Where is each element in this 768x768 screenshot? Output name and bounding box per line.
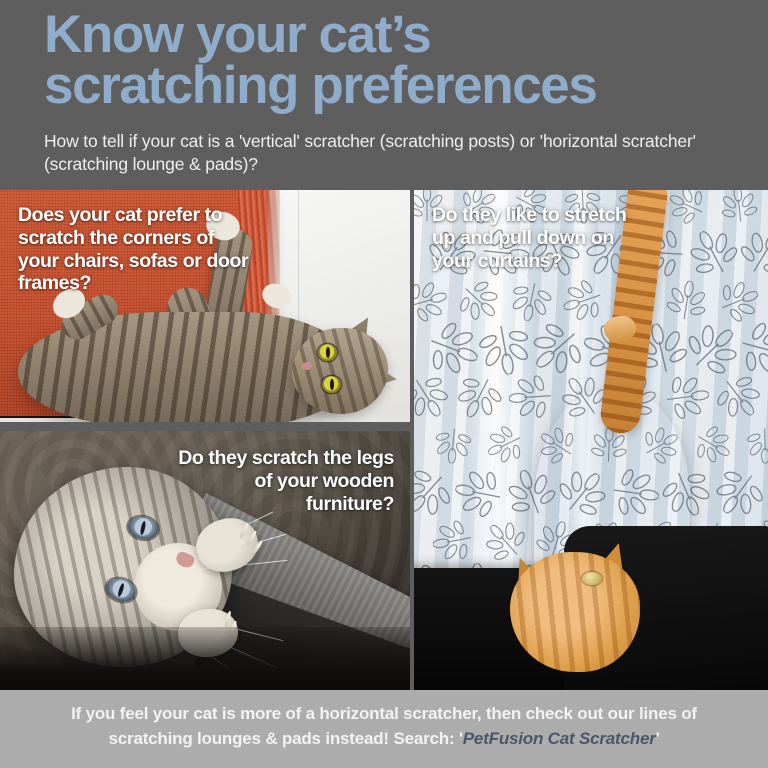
cat-head xyxy=(510,552,640,672)
panel-top-left: Does your cat prefer to scratch the corn… xyxy=(0,190,410,422)
panel-bottom-left: Do they scratch the legs of your wooden … xyxy=(0,431,410,690)
footer-quote-close: ' xyxy=(656,729,660,748)
infographic-poster: Know your cat’s scratching preferences H… xyxy=(0,0,768,768)
page-title: Know your cat’s scratching preferences xyxy=(44,10,744,112)
panel-caption-top-left: Does your cat prefer to scratch the corn… xyxy=(18,204,258,295)
footer-text: If you feel your cat is more of a horizo… xyxy=(34,702,734,751)
panel-caption-right: Do they like to stretch up and pull down… xyxy=(432,204,642,272)
page-subtitle: How to tell if your cat is a 'vertical' … xyxy=(44,130,734,176)
cat-head xyxy=(292,328,388,414)
header-band: Know your cat’s scratching preferences H… xyxy=(0,0,768,190)
cat-collar-tag xyxy=(582,572,602,585)
footer-band: If you feel your cat is more of a horizo… xyxy=(0,690,768,768)
cat-eye xyxy=(322,376,341,393)
footer-search-label: Search: xyxy=(393,729,454,748)
brand-name: PetFusion Cat Scratcher xyxy=(463,729,656,748)
panel-caption-bottom-left: Do they scratch the legs of your wooden … xyxy=(164,447,394,515)
page-title-line2: scratching preferences xyxy=(44,56,596,115)
panel-right: Do they like to stretch up and pull down… xyxy=(414,190,768,690)
cat-eye xyxy=(318,344,337,361)
